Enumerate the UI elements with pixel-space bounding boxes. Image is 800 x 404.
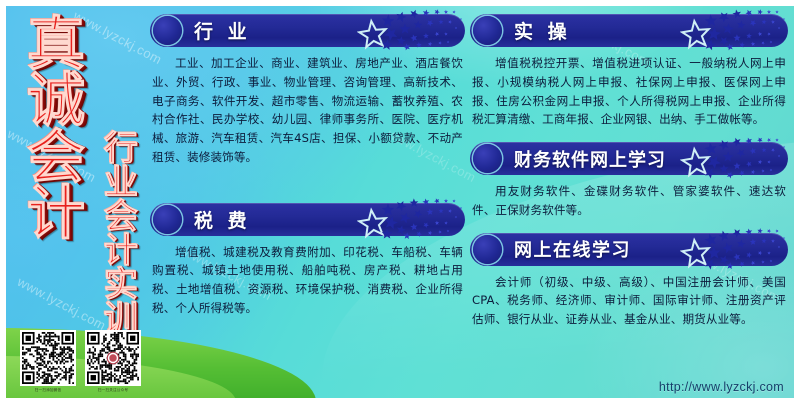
brand-sub-char: 计 [98,234,144,268]
bar-knob-icon [473,235,502,264]
stars-decoration-icon [680,135,792,181]
qr-code-svg [87,332,139,384]
section-header-bar: 税 费 [150,203,465,236]
qr-code-caption: 扫一扫关注公众号 [85,388,141,392]
qr-code-row: 扫一扫添加微信 扫一扫关注公众号 [20,330,141,392]
qr-code-caption: 扫一扫添加微信 [20,388,76,392]
stars-decoration-icon [357,196,469,242]
section-finance-software: 财务软件网上学习 用友财务软件、金碟财务软件、管家婆软件、速达软件、正保财务软件… [470,142,788,220]
brand-char: 会 [16,129,96,185]
bar-knob-icon [153,16,182,45]
section-body: 增值税、城建税及教育费附加、印花税、车船税、车辆购置税、城镇土地使用税、船舶吨税… [152,243,463,318]
brand-main-title: 真 诚 会 计 [16,16,96,241]
qr-code-wechat-consult[interactable]: 扫一扫关注公众号 [85,330,141,392]
section-header-bar: 财务软件网上学习 [470,142,788,175]
section-industry: 行 业 工业、加工企业、商业、建筑业、房地产业、酒店餐饮业、外贸、行政、事业、物… [150,14,465,167]
bar-knob-icon [473,144,502,173]
middle-column: 行 业 工业、加工企业、商业、建筑业、房地产业、酒店餐饮业、外贸、行政、事业、物… [150,14,465,328]
section-practice: 实 操 增值税税控开票、增值税进项认证、一般纳税人网上申报、小规模纳税人网上申报… [470,14,788,129]
stars-decoration-icon [680,226,792,272]
section-body: 会计师（初级、中级、高级）、中国注册会计师、美国CPA、税务师、经济师、审计师、… [472,273,786,329]
brand-sub-char: 业 [98,166,144,200]
right-column: 实 操 增值税税控开票、增值税进项认证、一般纳税人网上申报、小规模纳税人网上申报… [470,14,788,339]
section-body: 工业、加工企业、商业、建筑业、房地产业、酒店餐饮业、外贸、行政、事业、物业管理、… [152,54,463,167]
brand-sub-char: 实 [98,268,144,302]
brand-char: 计 [16,185,96,241]
section-title: 行 业 [194,17,251,44]
bar-knob-icon [153,205,182,234]
brand-sub-char: 会 [98,200,144,234]
brand-sub-title: 行 业 会 计 实 训 [98,132,144,336]
section-title: 税 费 [194,206,251,233]
section-online-learning: 网上在线学习 会计师（初级、中级、高级）、中国注册会计师、美国CPA、税务师、经… [470,233,788,329]
brand-char: 诚 [16,72,96,128]
bar-knob-icon [473,16,502,45]
section-body: 增值税税控开票、增值税进项认证、一般纳税人网上申报、小规模纳税人网上申报、社保网… [472,54,786,129]
section-header-bar: 网上在线学习 [470,233,788,266]
section-title: 财务软件网上学习 [514,146,666,172]
qr-code-wechat-official[interactable]: 扫一扫添加微信 [20,330,76,392]
qr-code-svg [22,332,74,384]
brand-char: 真 [16,16,96,72]
section-header-bar: 实 操 [470,14,788,47]
qr-code-icon [20,330,76,386]
section-title: 网上在线学习 [514,236,631,262]
qr-code-icon [85,330,141,386]
stars-decoration-icon [357,7,469,53]
section-body: 用友财务软件、金碟财务软件、管家婆软件、速达软件、正保财务软件等。 [472,182,786,220]
section-title: 实 操 [514,17,571,44]
stars-decoration-icon [680,7,792,53]
poster-canvas: www.lyzckj.com www.lyzckj.com www.lyzckj… [0,0,800,404]
section-tax: 税 费 增值税、城建税及教育费附加、印花税、车船税、车辆购置税、城镇土地使用税、… [150,203,465,318]
brand-sub-char: 行 [98,132,144,166]
brand-column: 真 诚 会 计 行 业 会 计 实 训 扫一扫添加微信 扫 [14,10,146,394]
section-header-bar: 行 业 [150,14,465,47]
website-url[interactable]: http://www.lyzckj.com [659,380,784,394]
